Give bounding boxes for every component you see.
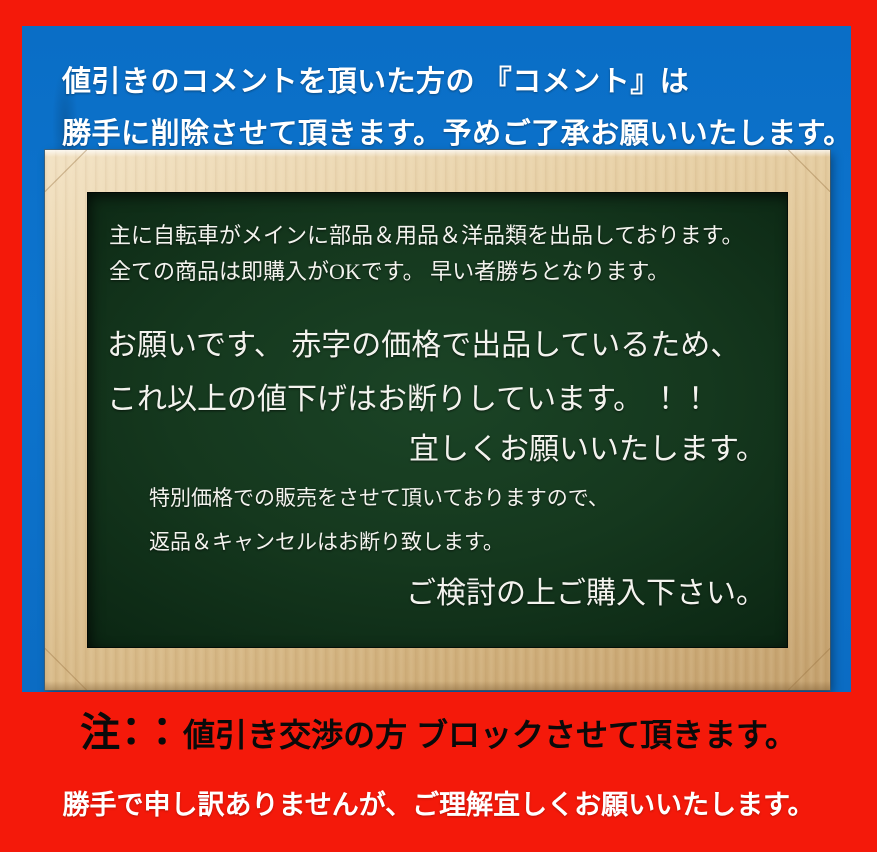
blue-header-panel: 値引きのコメントを頂いた方の 『コメント』は 勝手に削除させて頂きます。予めご了…: [22, 26, 851, 692]
blue-panel-line-1: 値引きのコメントを頂いた方の 『コメント』は: [62, 58, 689, 100]
blackboard-line-2: 全ての商品は即購入がOKです。 早い者勝ちとなります。: [109, 254, 669, 286]
frame-top-highlight: [45, 150, 830, 157]
notice-line-1-rest: 値引き交渉の方 ブロックさせて頂きます。: [183, 717, 797, 753]
frame-miter-top-left: [45, 150, 87, 192]
frame-bottom-shadow: [45, 681, 830, 690]
blackboard-line-5: 宜しくお願いいたします。: [409, 424, 766, 468]
notice-lead-label: 注：：: [80, 711, 183, 755]
blackboard-line-6: 特別価格での販売をさせて頂いておりますので、: [149, 482, 609, 512]
notice-line-1: 注：：値引き交渉の方 ブロックさせて頂きます。: [0, 700, 877, 758]
poster-root: 値引きのコメントを頂いた方の 『コメント』は 勝手に削除させて頂きます。予めご了…: [0, 0, 877, 852]
frame-miter-bottom-left: [45, 648, 87, 690]
blue-panel-line-2: 勝手に削除させて頂きます。予めご了承お願いいたします。: [62, 110, 851, 152]
blackboard-line-4: これ以上の値下げはお断りしています。 ！！: [107, 374, 711, 418]
frame-miter-bottom-right: [788, 648, 830, 690]
blackboard-line-1: 主に自転車がメインに部品＆用品＆洋品類を出品しております。: [109, 218, 743, 250]
blackboard-line-8: ご検討の上ご購入下さい。: [406, 568, 766, 612]
frame-miter-top-right: [788, 150, 830, 192]
blackboard-line-3: お願いです、 赤字の価格で出品しているため、: [107, 320, 740, 364]
blackboard: 主に自転車がメインに部品＆用品＆洋品類を出品しております。 全ての商品は即購入が…: [87, 192, 788, 648]
blackboard-line-7: 返品＆キャンセルはお断り致します。: [149, 526, 504, 556]
wooden-frame: 主に自転車がメインに部品＆用品＆洋品類を出品しております。 全ての商品は即購入が…: [45, 150, 830, 690]
notice-line-2: 勝手で申し訳ありませんが、ご理解宜しくお願いいたします。: [0, 783, 877, 822]
